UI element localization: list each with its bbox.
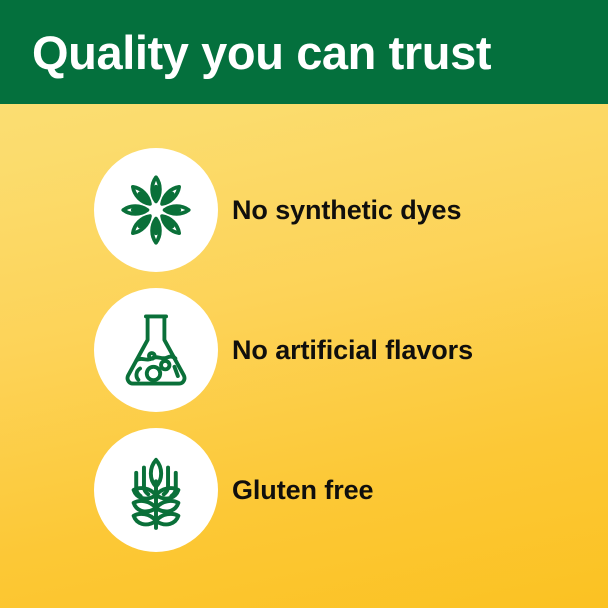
flask-icon	[114, 308, 198, 392]
icon-badge	[94, 288, 218, 412]
feature-label: Gluten free	[232, 477, 373, 504]
feature-list: No synthetic dyes No	[0, 104, 608, 608]
feature-row: Gluten free	[0, 420, 608, 560]
page-title: Quality you can trust	[32, 29, 491, 76]
feature-row: No synthetic dyes	[0, 140, 608, 280]
icon-badge	[94, 148, 218, 272]
quality-infographic: Quality you can trust	[0, 0, 608, 608]
feature-row: No artificial flavors	[0, 280, 608, 420]
icon-badge	[94, 428, 218, 552]
feature-label: No artificial flavors	[232, 337, 473, 364]
feature-label: No synthetic dyes	[232, 197, 461, 224]
flower-petals-icon	[113, 167, 199, 253]
header-band: Quality you can trust	[0, 0, 608, 104]
wheat-stalk-icon	[113, 447, 199, 533]
